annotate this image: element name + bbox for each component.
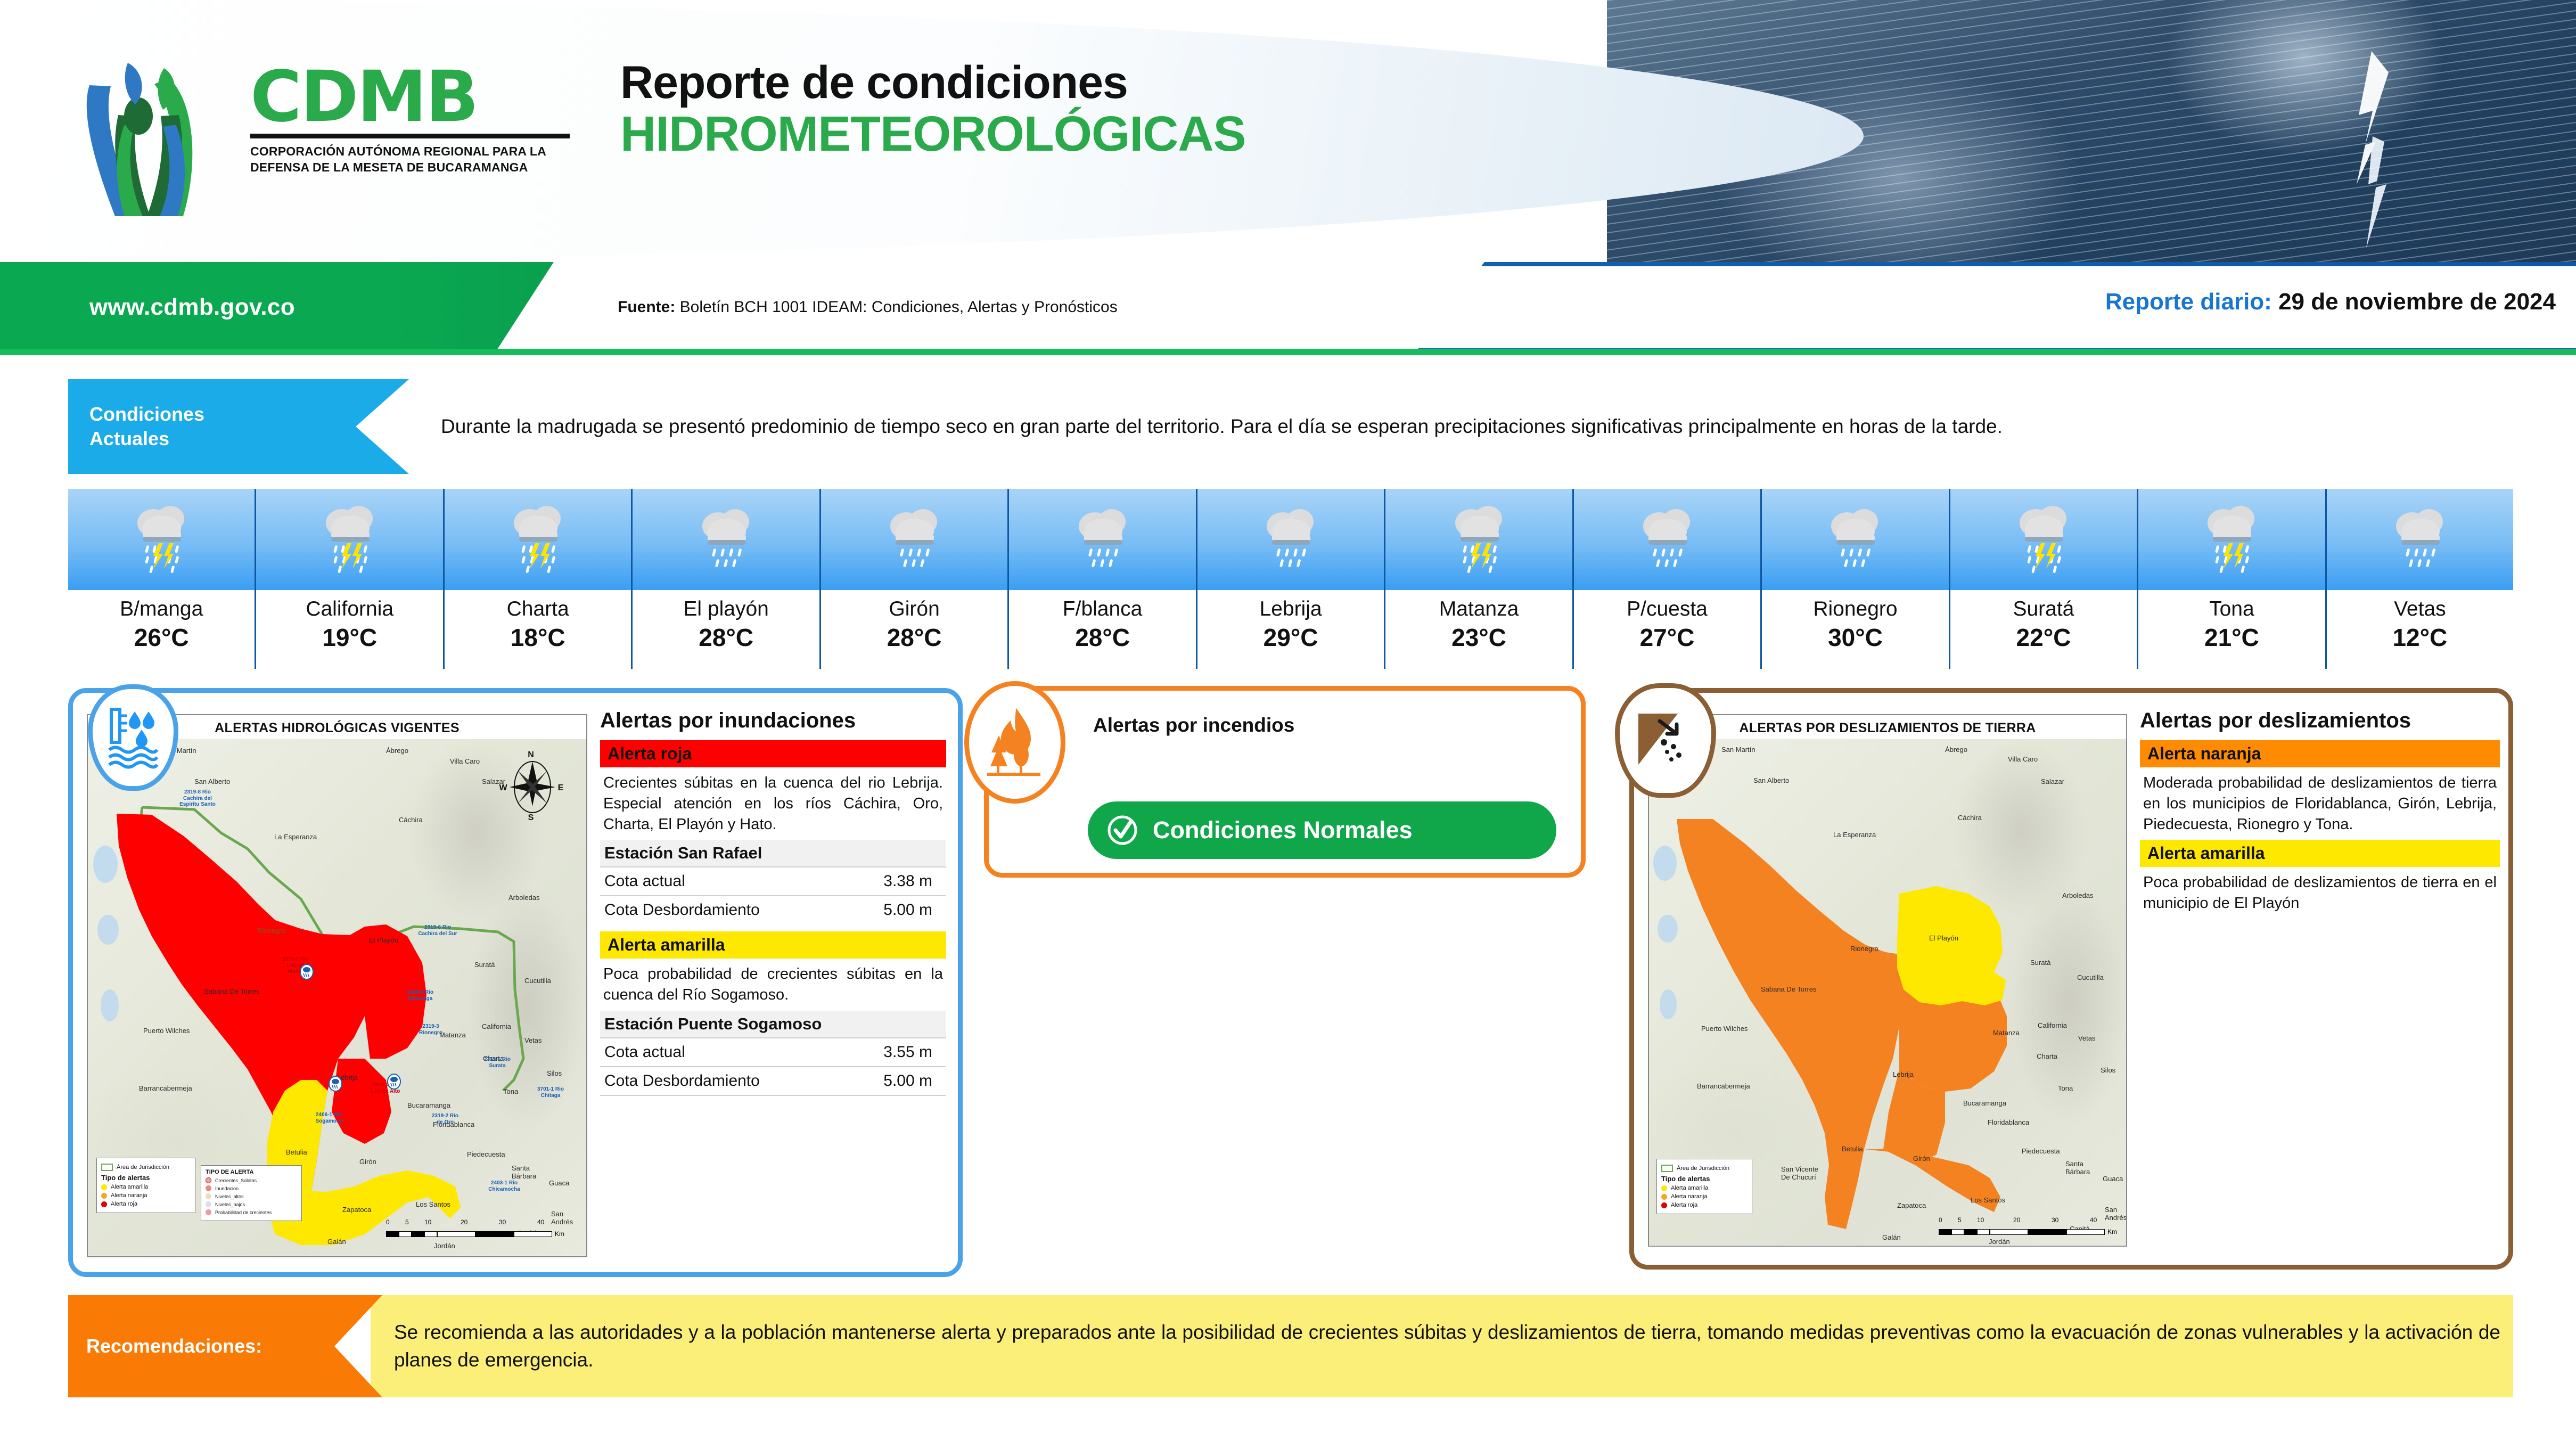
map-river-label: 2319-8 Rio Cachira del Espiritu Santo [176, 789, 219, 808]
flood-station-1-row: Cota Desbordamiento 5.00 m [600, 895, 946, 924]
weather-icon-box [1574, 489, 1760, 590]
weather-city-name: El playón [633, 599, 819, 620]
scale-tick: 40 [2090, 1216, 2097, 1224]
row-value: 5.00 m [883, 1072, 932, 1090]
flood-yellow-alert-label: Alerta amarilla [600, 931, 946, 959]
flood-red-alert-text: Crecientes súbitas en la cuenca del rio … [600, 767, 946, 840]
map-place-label: Rionegro [1850, 945, 1878, 953]
source-value: Boletín BCH 1001 IDEAM: Condiciones, Ale… [680, 298, 1118, 316]
legend-row-orange: Alerta naranja [1661, 1193, 1748, 1200]
flood-station-2-row: Cota actual 3.55 m [600, 1037, 946, 1066]
weather-city-name: Vetas [2327, 599, 2513, 620]
legend-red-label: Alerta roja [111, 1201, 137, 1207]
map-river-label: 2319-1 Rio Surata [480, 1057, 515, 1069]
landslide-icon [1634, 709, 1697, 772]
weather-icon-box [1009, 489, 1195, 590]
map-place-label: Rionegro [257, 927, 285, 935]
map-place-label: Bucaramanga [1963, 1099, 2006, 1107]
map-place-label: Barrancabermeja [139, 1084, 192, 1092]
weather-icon-box [256, 489, 442, 590]
weather-card: P/cuesta27°C [1574, 489, 1762, 669]
row-label: Cota Desbordamiento [604, 1072, 760, 1090]
flood-yellow-alert-text: Poca probabilidad de crecientes súbitas … [600, 959, 946, 1011]
weather-city-name: B/manga [68, 599, 255, 620]
legend-yellow-label: Alerta amarilla [111, 1184, 148, 1190]
rain-icon [883, 498, 946, 581]
rain-icon [2389, 498, 2451, 581]
legend2-label: Niveles_altos [215, 1194, 244, 1199]
map-place-label: El Playón [1929, 934, 1958, 942]
landslide-orange-alert-text: Moderada probabilidad de deslizamientos … [2140, 767, 2500, 840]
station-marker-icon [387, 1074, 401, 1090]
map-place-label: Cucutilla [2077, 973, 2104, 981]
map-place-label: Galán [327, 1238, 346, 1246]
scale-tick: 30 [499, 1218, 506, 1226]
map-place-label: California [482, 1022, 511, 1030]
map-place-label: San Andrés [551, 1210, 579, 1226]
weather-temperature: 29°C [1197, 625, 1384, 650]
weather-city-name: Rionegro [1762, 599, 1948, 620]
lightning-bolt-icon [2337, 51, 2407, 248]
weather-card: Lebrija29°C [1197, 489, 1385, 669]
landslide-yellow-alert-text: Poca probabilidad de deslizamientos de t… [2140, 867, 2500, 919]
station-marker-icon [329, 1076, 342, 1092]
red-dot-icon [101, 1201, 107, 1207]
scale-unit: Km [555, 1230, 564, 1238]
map-place-label: Vetas [524, 1036, 542, 1044]
map-place-label: Puerto Wilches [1701, 1025, 1748, 1033]
current-conditions-text: Durante la madrugada se presentó predomi… [441, 413, 2003, 440]
legend-orange-label: Alerta naranja [1671, 1193, 1708, 1200]
legend-row-red: Alerta roja [1661, 1202, 1748, 1208]
map-place-label: La Esperanza [274, 833, 317, 841]
map-place-label: Arboledas [508, 894, 540, 902]
weather-temperature: 21°C [2138, 625, 2325, 650]
weather-card: F/blanca28°C [1009, 489, 1197, 669]
map-place-label: Betulia [1842, 1145, 1863, 1153]
weather-temperature: 26°C [68, 625, 255, 650]
map-river-label: 3701-1 Rio Chitaga [534, 1086, 567, 1099]
map-place-label: Los Santos [416, 1200, 450, 1208]
weather-icon-box [1950, 489, 2137, 590]
map-place-label: Girón [1913, 1155, 1930, 1163]
weather-card: Vetas12°C [2327, 489, 2513, 669]
map-place-label: Charta [2037, 1052, 2057, 1060]
red-dot-icon [1661, 1202, 1667, 1208]
map-place-label: Jordán [1989, 1238, 2010, 1245]
scale-tick: 5 [405, 1218, 409, 1226]
weather-city-name: Matanza [1385, 599, 1572, 620]
weather-temperature: 18°C [445, 625, 631, 650]
map-place-label: El Playón [369, 936, 398, 944]
weather-temperature: 28°C [633, 625, 819, 650]
niveles-bajos-icon [206, 1201, 211, 1207]
map-place-label: Salazar [482, 777, 505, 785]
weather-card: Tona21°C [2138, 489, 2326, 669]
map-place-label: Cáchira [399, 816, 423, 824]
map-scale-bar: Km [386, 1230, 564, 1238]
weather-city-name: Lebrija [1197, 599, 1384, 620]
logo-wordmark: CDMB [250, 64, 591, 130]
legend-red-label: Alerta roja [1671, 1202, 1697, 1208]
scale-unit: Km [2107, 1228, 2117, 1235]
legend2-label: Niveles_bajos [215, 1202, 245, 1207]
weather-city-name: Charta [445, 599, 631, 620]
map-place-label: San Andrés [2105, 1206, 2126, 1222]
forest-fire-icon [983, 702, 1047, 782]
map-place-label: Piedecuesta [2022, 1147, 2060, 1155]
map-place-label: Salazar [2041, 777, 2064, 785]
logo-subtitle-line2: DEFENSA DE LA MESETA DE BUCARAMANGA [250, 160, 591, 175]
niveles-altos-icon [206, 1193, 211, 1199]
map-legend-alert-symbols: TIPO DE ALERTA Crecientes_Súbitas Inunda… [201, 1165, 302, 1221]
row-label: Cota Desbordamiento [604, 901, 760, 919]
map-place-label: Lebrija [1893, 1070, 1914, 1078]
map-place-label: Los Santos [1971, 1196, 2005, 1204]
map-river-label: 2319-5 Rio Salamaga [401, 989, 439, 1002]
report-date-label: Reporte diario: [2105, 289, 2272, 315]
map-place-label: Ábrego [1945, 746, 1967, 754]
legend2-row: Probabilidad de crecientes [206, 1209, 297, 1215]
hydrological-map-canvas: N S E W San Martín San Alberto Ábrego Vi… [88, 739, 586, 1256]
landslide-alerts-panel: ALERTAS POR DESLIZAMIENTOS DE TIERRA S [1629, 688, 2513, 1270]
legend-jurisdiction-label: Área de Jurisdicción [117, 1164, 169, 1170]
weather-city-name: California [256, 599, 442, 620]
map-river-label: 2319-6 Rio Cachira del Sur [418, 924, 457, 937]
landslide-orange-alert-label: Alerta naranja [2140, 740, 2500, 767]
map-place-label: Vetas [2078, 1034, 2096, 1042]
probabilidad-crecientes-icon [206, 1209, 211, 1215]
check-circle-icon [1106, 814, 1139, 847]
row-value: 3.38 m [883, 872, 932, 890]
weather-icon-box [2327, 489, 2513, 590]
station-marker-icon [300, 964, 314, 980]
scale-tick: 10 [1977, 1216, 1984, 1224]
map-place-label: Betulia [286, 1148, 307, 1156]
svg-text:S: S [528, 813, 534, 822]
scale-tick: 30 [2052, 1216, 2058, 1224]
flood-station-1-name: Estación San Rafael [600, 840, 946, 866]
weather-city-name: P/cuesta [1574, 599, 1760, 620]
legend-row-jurisdiction: Área de Jurisdicción [1661, 1165, 1748, 1172]
yellow-dot-icon [1661, 1185, 1667, 1191]
landslide-alerts-content: Alertas por deslizamientos Alerta naranj… [2140, 709, 2500, 919]
recommendations-tag-label: Recomendaciones: [86, 1335, 262, 1357]
map-place-label: Ábrego [386, 747, 408, 755]
weather-temperature: 23°C [1385, 625, 1572, 650]
inundacion-icon [206, 1185, 211, 1191]
orange-dot-icon [101, 1193, 107, 1199]
legend-row-red: Alerta roja [101, 1201, 191, 1207]
row-label: Cota actual [604, 872, 685, 890]
map-place-label: Suratá [474, 961, 495, 969]
legend2-title: TIPO DE ALERTA [206, 1169, 297, 1175]
source-label: Fuente: [618, 298, 675, 316]
weather-icon-box [1385, 489, 1572, 590]
map-place-label: San Alberto [1753, 776, 1789, 784]
map-place-label: Floridablanca [1988, 1118, 2029, 1126]
legend-row-orange: Alerta naranja [101, 1192, 191, 1199]
map-place-label: Cáchira [1958, 814, 1982, 822]
thunderstorm-icon [506, 498, 569, 581]
website-panel[interactable]: www.cdmb.gov.co [0, 262, 554, 353]
weather-city-name: Girón [821, 599, 1007, 620]
report-date-block: Reporte diario: 29 de noviembre de 2024 [2105, 289, 2556, 315]
map-river-label: 2319-2 Rio de Oro [429, 1113, 462, 1125]
orange-dot-icon [1661, 1194, 1667, 1200]
current-conditions-tag-line1: Condiciones [89, 402, 409, 427]
map-place-label: Villa Caro [450, 757, 480, 765]
map-legend-alert-types: Área de Jurisdicción Tipo de alertas Ale… [1656, 1159, 1752, 1214]
map-place-label: Girón [359, 1158, 376, 1166]
flood-red-alert-label: Alerta roja [600, 740, 946, 767]
thunderstorm-icon [1448, 498, 1511, 581]
map-place-label: Suratá [2030, 959, 2050, 967]
weather-city-name: Suratá [1950, 599, 2137, 620]
weather-temperature: 30°C [1762, 625, 1948, 650]
flood-station-2-name: Estación Puente Sogamoso [600, 1011, 946, 1037]
map-place-label: Cucutilla [524, 977, 551, 985]
weather-temperature: 22°C [1950, 625, 2137, 650]
compass-rose-icon: N S E W [498, 748, 567, 822]
legend-jurisdiction-label: Área de Jurisdicción [1677, 1165, 1729, 1172]
scale-tick: 20 [2013, 1216, 2020, 1224]
fire-alerts-panel: Alertas por incendios Condiciones Normal… [984, 686, 1586, 878]
weather-icon-box [1762, 489, 1948, 590]
recommendations-text: Se recomienda a las autoridades y a la p… [394, 1319, 2500, 1374]
landslide-badge [1615, 683, 1716, 798]
weather-temperature: 12°C [2327, 625, 2513, 650]
fire-status-badge: Condiciones Normales [1088, 801, 1556, 859]
map-place-label: Guaca [549, 1179, 569, 1187]
legend2-row: Inundacion [206, 1185, 297, 1191]
logo-subtitle-line1: CORPORACIÓN AUTÓNOMA REGIONAL PARA LA [250, 144, 591, 159]
fire-alerts-heading: Alertas por incendios [1093, 713, 1294, 738]
map-place-label: Puerto Wilches [143, 1027, 190, 1035]
thunderstorm-icon [2200, 498, 2263, 581]
map-place-label: Piedecuesta [467, 1150, 505, 1158]
weather-icon-box [633, 489, 819, 590]
legend2-row: Niveles_altos [206, 1193, 297, 1199]
page-title-line1: Reporte de condiciones [620, 59, 1246, 107]
recommendations-section: Se recomienda a las autoridades y a la p… [68, 1295, 2513, 1397]
legend2-label: Inundacion [215, 1186, 239, 1191]
page-header: CDMB CORPORACIÓN AUTÓNOMA REGIONAL PARA … [0, 0, 2576, 262]
map-legend-alert-types: Área de Jurisdicción Tipo de alertas Ale… [96, 1158, 195, 1213]
current-conditions-text-wrap: Durante la madrugada se presentó predomi… [420, 379, 2513, 474]
legend-title: Tipo de alertas [101, 1174, 191, 1182]
cdmb-logo: CDMB CORPORACIÓN AUTÓNOMA REGIONAL PARA … [64, 42, 596, 223]
alert-panels: ALERTAS HIDROLÓGICAS VIGENTES [0, 681, 2576, 1282]
weather-card: El playón28°C [633, 489, 821, 669]
green-underline [0, 349, 2576, 355]
landslide-yellow-alert-label: Alerta amarilla [2140, 840, 2500, 867]
recommendations-body: Se recomienda a las autoridades y a la p… [371, 1295, 2513, 1397]
scale-tick: 5 [1958, 1216, 1962, 1224]
map-place-label: Villa Caro [2008, 755, 2038, 763]
weather-icon-box [68, 489, 255, 590]
legend-row-jurisdiction: Área de Jurisdicción [101, 1164, 191, 1171]
weather-strip: B/manga26°C California19°C [68, 489, 2513, 669]
scale-tick: 10 [424, 1218, 431, 1226]
map-place-label: Bucaramanga [407, 1101, 450, 1109]
hydrological-alert-map[interactable]: ALERTAS HIDROLÓGICAS VIGENTES [87, 714, 587, 1257]
landslide-alerts-heading: Alertas por deslizamientos [2140, 709, 2500, 733]
cdmb-logo-mark-icon [69, 47, 245, 223]
rain-icon [695, 498, 758, 581]
map-river-label: 2406-1 Rio Sogamoso [310, 1112, 348, 1124]
flood-station-1-row: Cota actual 3.38 m [600, 866, 946, 895]
map-river-label: 2319-3 Rionegro [414, 1024, 448, 1036]
scale-tick: 0 [1939, 1216, 1942, 1224]
map-place-label: Sabana De Torres [1761, 985, 1817, 993]
weather-card: Girón28°C [821, 489, 1009, 669]
map-place-label: La Esperanza [1833, 831, 1876, 839]
landslide-alert-map[interactable]: ALERTAS POR DESLIZAMIENTOS DE TIERRA S [1648, 714, 2127, 1247]
jurisdiction-swatch-icon [1661, 1165, 1673, 1172]
flood-alerts-panel: ALERTAS HIDROLÓGICAS VIGENTES [68, 688, 963, 1277]
map-place-label: Barrancabermeja [1697, 1082, 1750, 1090]
map-scale-bar: Km [1939, 1228, 2117, 1235]
weather-icon-box [821, 489, 1007, 590]
legend2-label: Crecientes_Súbitas [215, 1178, 257, 1183]
rain-icon [1636, 498, 1699, 581]
weather-card: Suratá22°C [1950, 489, 2138, 669]
landslide-map-title: ALERTAS POR DESLIZAMIENTOS DE TIERRA [1649, 715, 2126, 739]
info-bar: Fuente: Boletín BCH 1001 IDEAM: Condicio… [0, 262, 2576, 353]
map-place-label: Zapatoca [342, 1206, 371, 1214]
weather-card: Charta18°C [445, 489, 633, 669]
source-text: Fuente: Boletín BCH 1001 IDEAM: Condicio… [618, 298, 1118, 316]
map-place-label: Sabana De Torres [204, 987, 260, 995]
legend-orange-label: Alerta naranja [111, 1192, 147, 1199]
map-place-label: Guaca [2103, 1175, 2123, 1183]
report-date-value: 29 de noviembre de 2024 [2278, 289, 2556, 315]
map-place-label: Galán [1882, 1233, 1901, 1241]
weather-card: Rionegro30°C [1762, 489, 1950, 669]
weather-card: B/manga26°C [68, 489, 256, 669]
weather-icon-box [1197, 489, 1384, 590]
weather-temperature: 27°C [1574, 625, 1760, 650]
page-title: Reporte de condiciones HIDROMETEOROLÓGIC… [620, 59, 1246, 161]
scale-tick: 0 [386, 1218, 390, 1226]
svg-text:E: E [558, 783, 564, 792]
flood-station-2-row: Cota Desbordamiento 5.00 m [600, 1066, 946, 1096]
weather-temperature: 19°C [256, 625, 442, 650]
map-river-label: 2403-1 Rio Chicamocha [486, 1180, 522, 1192]
weather-temperature: 28°C [1009, 625, 1195, 650]
fire-status-text: Condiciones Normales [1153, 816, 1413, 844]
map-place-label: Santa Bárbara [2065, 1160, 2097, 1176]
rain-icon [1824, 498, 1886, 581]
thunderstorm-icon [2012, 498, 2075, 581]
thunderstorm-icon [318, 498, 381, 581]
map-place-label: Arboledas [2062, 891, 2094, 899]
map-place-label: Matanza [1993, 1029, 2020, 1037]
legend-row-yellow: Alerta amarilla [101, 1184, 191, 1190]
row-value: 5.00 m [883, 901, 932, 919]
flood-alerts-heading: Alertas por inundaciones [600, 709, 946, 733]
weather-city-name: F/blanca [1009, 599, 1195, 620]
current-conditions-tag-line2: Actuales [89, 427, 409, 451]
weather-card: Matanza23°C [1385, 489, 1573, 669]
map-place-label: San Martín [1721, 746, 1755, 754]
weather-temperature: 28°C [821, 625, 1007, 650]
page-title-line2: HIDROMETEOROLÓGICAS [620, 107, 1246, 160]
scale-tick: 20 [461, 1218, 467, 1226]
legend-title: Tipo de alertas [1661, 1175, 1748, 1183]
weather-card: California19°C [256, 489, 444, 669]
map-place-label: Zapatoca [1897, 1201, 1926, 1209]
row-label: Cota actual [604, 1043, 685, 1061]
map-place-label: Tona [2058, 1084, 2073, 1092]
svg-text:N: N [528, 750, 534, 759]
row-value: 3.55 m [883, 1043, 932, 1061]
map-place-label: San Alberto [194, 777, 230, 785]
landslide-map-canvas: San Martín San Alberto Ábrego Villa Caro… [1649, 739, 2126, 1245]
crecientes-subitas-icon [206, 1177, 211, 1183]
rain-icon [1071, 498, 1134, 581]
current-conditions-section: Condiciones Actuales Durante la madrugad… [68, 379, 2513, 474]
legend-yellow-label: Alerta amarilla [1671, 1185, 1708, 1191]
website-url[interactable]: www.cdmb.gov.co [89, 294, 295, 321]
scale-tick: 40 [537, 1218, 544, 1226]
water-level-gauge-icon [104, 703, 162, 772]
yellow-dot-icon [101, 1184, 107, 1190]
current-conditions-tag: Condiciones Actuales [68, 379, 409, 474]
map-place-label: Silos [547, 1069, 562, 1077]
legend2-row: Niveles_bajos [206, 1201, 297, 1207]
jurisdiction-swatch-icon [101, 1164, 113, 1171]
map-place-label: Silos [2101, 1066, 2115, 1074]
weather-city-name: Tona [2138, 599, 2325, 620]
map-place-label: Santa Bárbara [512, 1164, 544, 1180]
legend-row-yellow: Alerta amarilla [1661, 1185, 1748, 1191]
recommendations-tag: Recomendaciones: [68, 1295, 382, 1397]
map-place-label: Jordán [434, 1242, 455, 1250]
fire-badge [964, 681, 1065, 804]
legend2-label: Probabilidad de crecientes [215, 1210, 272, 1215]
rain-icon [1259, 498, 1322, 581]
thunderstorm-icon [130, 498, 193, 581]
map-place-label: California [2038, 1021, 2067, 1029]
map-place-label: Tona [503, 1087, 518, 1095]
flood-alerts-content: Alertas por inundaciones Alerta roja Cre… [600, 709, 946, 1096]
map-place-label: San Vicente De Chucurí [1781, 1165, 1826, 1181]
legend2-row: Crecientes_Súbitas [206, 1177, 297, 1183]
weather-icon-box [2138, 489, 2325, 590]
weather-icon-box [445, 489, 631, 590]
